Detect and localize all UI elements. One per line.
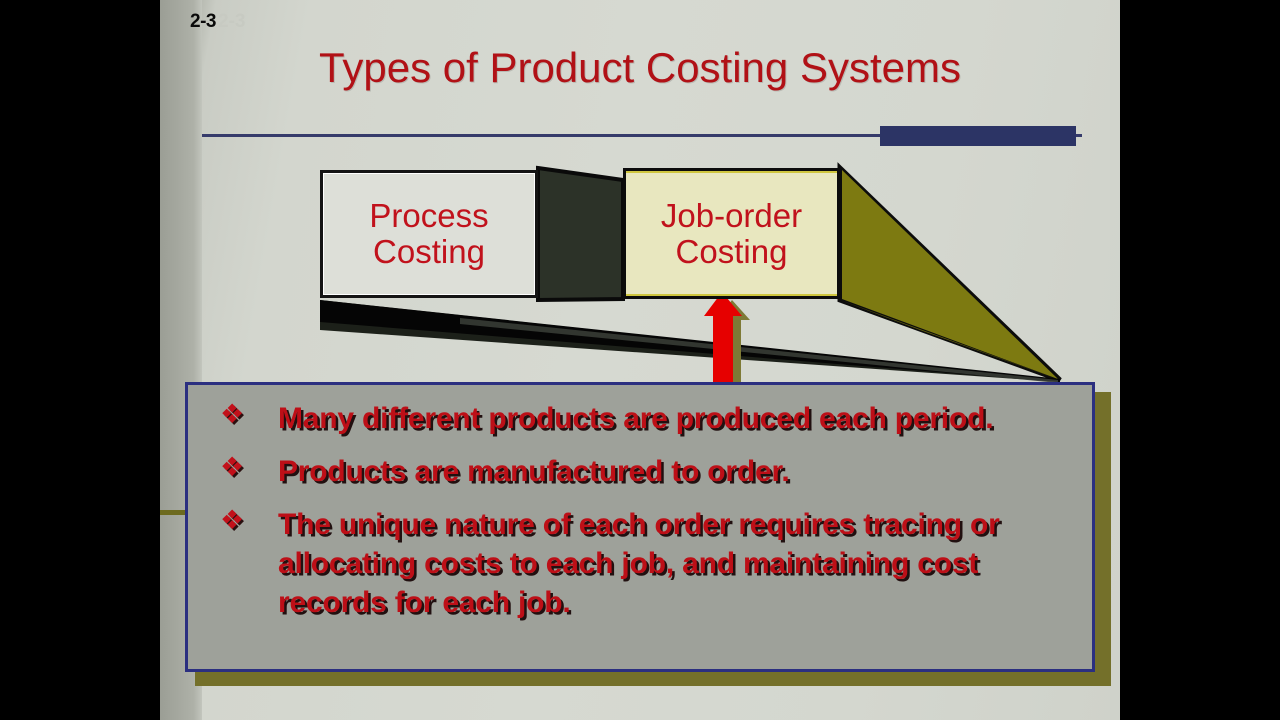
box-process-line1: Process — [369, 198, 488, 234]
slide-number: 2-3 — [190, 11, 216, 33]
letterbox-right — [1120, 0, 1280, 720]
diamond-bullet-icon: ❖ — [206, 452, 278, 483]
list-item: ❖ The unique nature of each order requir… — [206, 505, 1074, 622]
list-item: ❖ Many different products are produced e… — [206, 399, 1074, 438]
bullet-panel: ❖ Many different products are produced e… — [185, 382, 1095, 672]
bullet-text: Products are manufactured to order. — [278, 452, 1074, 491]
diamond-bullet-icon: ❖ — [206, 399, 278, 430]
bullet-text: Many different products are produced eac… — [278, 399, 1068, 438]
letterbox-left — [0, 0, 160, 720]
slide-number-ghost: 2-3 — [218, 11, 245, 33]
box-process-line2: Costing — [373, 234, 485, 270]
screen: 2-3 2-3 Types of Product Costing Systems — [0, 0, 1280, 720]
bullet-text: The unique nature of each order requires… — [278, 505, 1038, 622]
diamond-bullet-icon: ❖ — [206, 505, 278, 536]
box-joborder-line1: Job-order — [661, 198, 802, 234]
list-item: ❖ Products are manufactured to order. — [206, 452, 1074, 491]
box-process-costing[interactable]: Process Costing — [320, 170, 538, 298]
box-joborder-costing[interactable]: Job-order Costing — [623, 168, 840, 299]
slide-canvas: 2-3 2-3 Types of Product Costing Systems — [160, 0, 1120, 720]
box-joborder-line2: Costing — [676, 234, 788, 270]
